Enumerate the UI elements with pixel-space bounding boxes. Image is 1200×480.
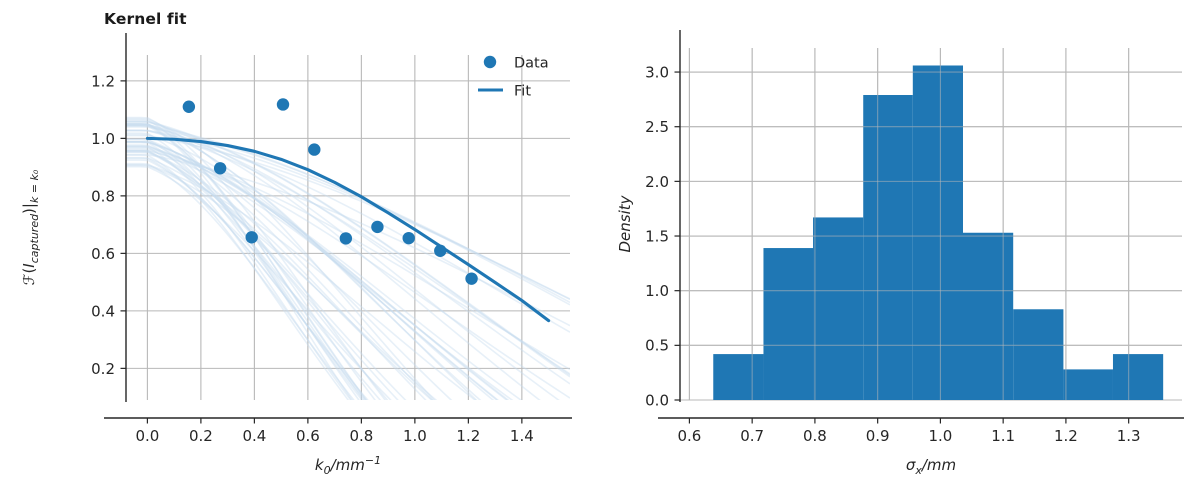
x-tick-label: 0.2 xyxy=(189,427,213,445)
y-axis-ticks: 0.20.40.60.81.01.2 xyxy=(91,72,126,378)
x-tick-label: 0.6 xyxy=(677,427,701,445)
y-tick-label: 0.2 xyxy=(91,360,115,378)
data-point xyxy=(465,272,477,284)
figure-canvas: Kernel fit 0.00.20.40.60.81.01.21.40.20.… xyxy=(0,0,1200,480)
bootstrap-sample-line xyxy=(126,165,570,469)
x-tick-label: 1.1 xyxy=(991,427,1015,445)
svg-text:ℱ(Icaptured)|k = k₀: ℱ(Icaptured)|k = k₀ xyxy=(20,169,41,285)
x-tick-label: 0.8 xyxy=(803,427,827,445)
x-axis-label: σx/mm xyxy=(906,456,956,477)
histogram-bar xyxy=(963,233,1013,400)
data-point xyxy=(246,231,258,243)
x-tick-label: 1.2 xyxy=(456,427,480,445)
legend-label-data: Data xyxy=(514,56,549,72)
y-axis-label: ℱ(Icaptured)|k = k₀ xyxy=(20,169,41,285)
data-point xyxy=(403,232,415,244)
y-tick-label: 1.0 xyxy=(645,282,669,300)
x-tick-label: 0.4 xyxy=(242,427,266,445)
y-tick-label: 1.5 xyxy=(645,227,669,245)
data-point xyxy=(308,143,320,155)
y-tick-label: 0.8 xyxy=(91,187,115,205)
y-axis-label: Density xyxy=(616,194,634,252)
y-tick-label: 0.0 xyxy=(645,391,669,409)
bootstrap-sample-line xyxy=(126,125,570,305)
x-tick-label: 0.9 xyxy=(866,427,890,445)
data-point xyxy=(183,101,195,113)
x-tick-label: 0.6 xyxy=(296,427,320,445)
legend: DataFit xyxy=(478,56,549,100)
x-axis-ticks: 0.60.70.80.91.01.11.21.3 xyxy=(677,418,1140,445)
y-axis-ticks: 0.00.51.01.52.02.53.0 xyxy=(645,63,680,409)
kernel-fit-plot: 0.00.20.40.60.81.01.21.40.20.40.60.81.01… xyxy=(0,0,600,480)
data-point xyxy=(277,98,289,110)
y-tick-label: 2.0 xyxy=(645,173,669,191)
x-tick-label: 1.0 xyxy=(928,427,952,445)
histogram-bar xyxy=(1113,354,1163,400)
y-tick-label: 1.2 xyxy=(91,72,115,90)
legend-marker-data xyxy=(484,56,496,68)
y-tick-label: 1.0 xyxy=(91,130,115,148)
panel-spatial-resolution: Spatial resolution 0.60.70.80.91.01.11.2… xyxy=(600,0,1200,480)
y-tick-label: 0.5 xyxy=(645,337,669,355)
x-tick-label: 0.7 xyxy=(740,427,764,445)
histogram-bar xyxy=(913,65,963,400)
x-tick-label: 0.0 xyxy=(135,427,159,445)
y-tick-label: 2.5 xyxy=(645,118,669,136)
y-tick-label: 0.6 xyxy=(91,245,115,263)
histogram-bar xyxy=(713,354,763,400)
legend-label-fit: Fit xyxy=(514,84,531,100)
data-point xyxy=(340,232,352,244)
bootstrap-fan xyxy=(126,118,570,480)
spatial-resolution-plot: 0.60.70.80.91.01.11.21.30.00.51.01.52.02… xyxy=(600,0,1200,480)
x-tick-label: 1.3 xyxy=(1117,427,1141,445)
y-tick-label: 0.4 xyxy=(91,302,115,320)
x-tick-label: 1.0 xyxy=(403,427,427,445)
histogram-bar xyxy=(863,95,913,400)
x-tick-label: 0.8 xyxy=(349,427,373,445)
panel-title-kernel-fit: Kernel fit xyxy=(104,10,187,28)
x-tick-label: 1.2 xyxy=(1054,427,1078,445)
data-point xyxy=(434,245,446,257)
panel-kernel-fit: Kernel fit 0.00.20.40.60.81.01.21.40.20.… xyxy=(0,0,600,480)
histogram-bar xyxy=(763,248,813,400)
histogram-bar xyxy=(1013,309,1063,400)
x-axis-ticks: 0.00.20.40.60.81.01.21.4 xyxy=(135,418,533,445)
data-point xyxy=(371,221,383,233)
histogram-bar xyxy=(1063,369,1113,400)
data-point xyxy=(214,162,226,174)
histogram-bars xyxy=(713,65,1163,400)
x-axis-label: k0/mm−1 xyxy=(315,454,381,477)
histogram-bar xyxy=(813,217,863,400)
x-tick-label: 1.4 xyxy=(510,427,534,445)
y-tick-label: 3.0 xyxy=(645,63,669,81)
